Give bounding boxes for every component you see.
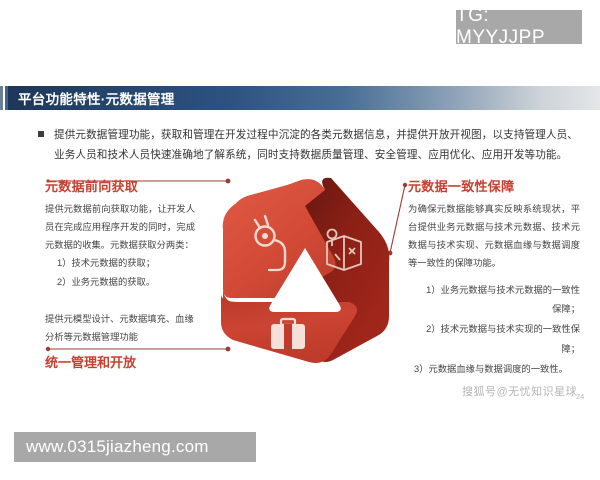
left-panel-bottom-heading: 统一管理和开放 <box>45 352 195 371</box>
right-panel-heading: 元数据一致性保障 <box>408 176 580 195</box>
left-panel: 元数据前向获取 提供元数据前向获取功能，让开发人员在完成应用程序开发的同时，完成… <box>45 176 195 371</box>
intro-bullet: 提供元数据管理功能，获取和管理在开发过程中沉淀的各类元数据信息，并提供开放开视图… <box>38 126 578 165</box>
square-bullet-icon <box>38 131 44 137</box>
left-panel-note: 提供元模型设计、元数据填充、血缘分析等元数据管理功能 <box>45 310 195 346</box>
tg-watermark: TG: MYYJJPP <box>456 10 582 44</box>
list-item: 3）元数据血缘与数据调度的一致性。 <box>408 360 580 380</box>
left-panel-body: 提供元数据前向获取功能，让开发人员在完成应用程序开发的同时，完成元数据的收集。元… <box>45 200 195 254</box>
page-title: 平台功能特性·元数据管理 <box>18 88 175 108</box>
list-item: 2）技术元数据与技术实现的一致性保障； <box>408 320 580 360</box>
page-number: 24 <box>576 392 584 401</box>
list-item: 1）业务元数据与技术元数据的一致性保障； <box>408 281 580 321</box>
list-item: 1）技术元数据的获取； <box>45 254 195 273</box>
right-panel-list: 1）业务元数据与技术元数据的一致性保障； 2）技术元数据与技术实现的一致性保障；… <box>408 281 580 381</box>
right-panel-body: 为确保元数据能够真实反映系统现状，平台提供业务元数据与技术元数据、技术元数据与技… <box>408 200 580 273</box>
left-panel-heading: 元数据前向获取 <box>45 176 195 195</box>
list-item: 2）业务元数据的获取。 <box>45 273 195 292</box>
left-panel-list: 1）技术元数据的获取； 2）业务元数据的获取。 <box>45 254 195 291</box>
site-watermark: www.0315jiazheng.com <box>14 432 256 462</box>
title-accent-bar-inner <box>5 86 8 110</box>
section-title-bar: 平台功能特性·元数据管理 <box>0 86 600 110</box>
right-panel: 元数据一致性保障 为确保元数据能够真实反映系统现状，平台提供业务元数据与技术元数… <box>408 176 580 380</box>
metadata-hexagon-diagram <box>213 176 398 366</box>
intro-text: 提供元数据管理功能，获取和管理在开发过程中沉淀的各类元数据信息，并提供开放开视图… <box>54 126 578 165</box>
connector-right-top-dot <box>403 183 407 187</box>
slide-root: TG: MYYJJPP 平台功能特性·元数据管理 提供元数据管理功能，获取和管理… <box>0 0 600 480</box>
sohu-watermark: 搜狐号@无忧知识星球 <box>462 383 577 399</box>
